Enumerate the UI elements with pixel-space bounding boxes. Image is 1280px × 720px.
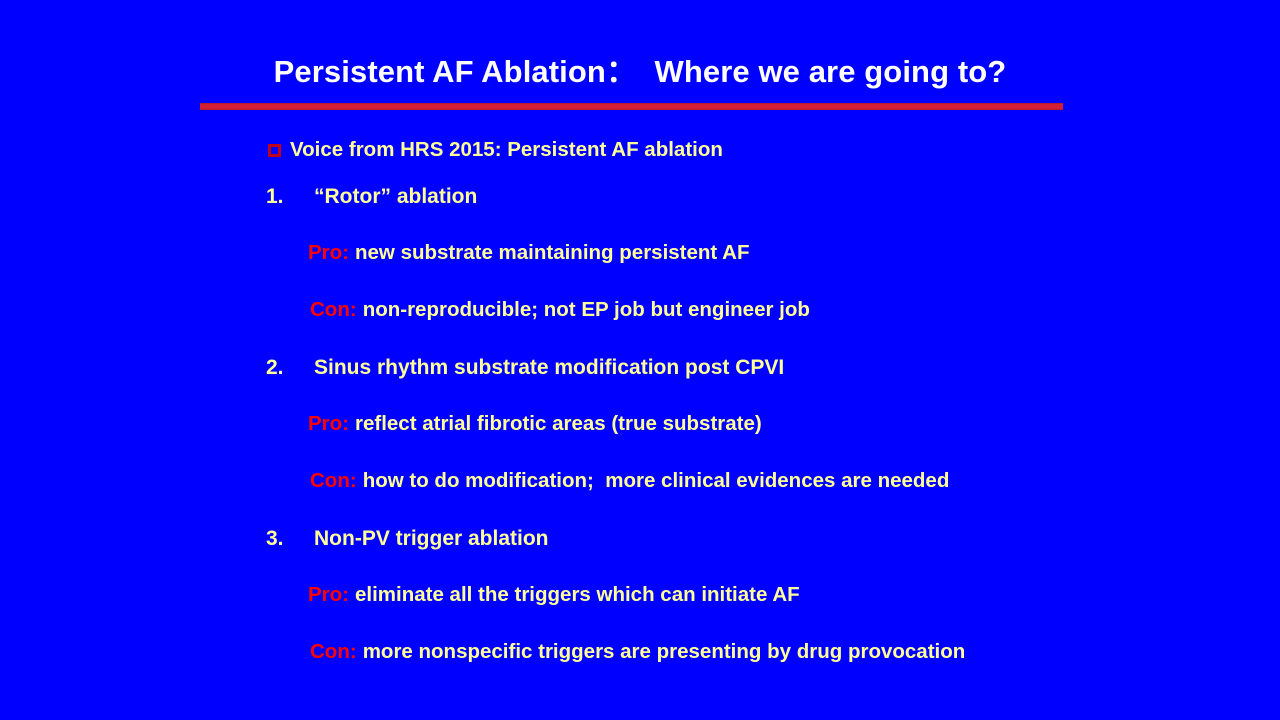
presentation-slide: Persistent AF Ablation： Where we are goi… xyxy=(0,0,1280,720)
con-row: Con: more nonspecific triggers are prese… xyxy=(310,624,1280,681)
con-label: Con: xyxy=(310,642,357,663)
list-item: 3. Non-PV trigger ablation xyxy=(266,510,1280,567)
list-item-number: 2. xyxy=(266,357,314,378)
pro-text: reflect atrial fibrotic areas (true subs… xyxy=(355,414,762,435)
pro-row: Pro: new substrate maintaining persisten… xyxy=(308,225,1280,282)
pro-text: eliminate all the triggers which can ini… xyxy=(355,585,800,606)
pro-label: Pro: xyxy=(308,585,349,606)
con-label: Con: xyxy=(310,471,357,492)
list-item-number: 3. xyxy=(266,528,314,549)
con-row: Con: how to do modification; more clinic… xyxy=(310,453,1280,510)
bullet-heading-row: Voice from HRS 2015: Persistent AF ablat… xyxy=(268,132,1280,168)
con-text: how to do modification; more clinical ev… xyxy=(363,471,950,492)
list-item: 1. “Rotor” ablation xyxy=(266,168,1280,225)
con-text: more nonspecific triggers are presenting… xyxy=(363,642,966,663)
slide-body: Voice from HRS 2015: Persistent AF ablat… xyxy=(0,132,1280,681)
list-item-number: 1. xyxy=(266,186,314,207)
title-underline-rule xyxy=(200,103,1063,110)
pro-row: Pro: reflect atrial fibrotic areas (true… xyxy=(308,396,1280,453)
con-text: non-reproducible; not EP job but enginee… xyxy=(363,300,810,321)
list-item-label: Non-PV trigger ablation xyxy=(314,528,549,549)
pro-label: Pro: xyxy=(308,243,349,264)
con-row: Con: non-reproducible; not EP job but en… xyxy=(310,282,1280,339)
list-item-label: “Rotor” ablation xyxy=(314,186,477,207)
bullet-heading-label: Voice from HRS 2015: Persistent AF ablat… xyxy=(290,140,723,161)
pro-row: Pro: eliminate all the triggers which ca… xyxy=(308,567,1280,624)
list-item-label: Sinus rhythm substrate modification post… xyxy=(314,357,784,378)
list-item: 2. Sinus rhythm substrate modification p… xyxy=(266,339,1280,396)
pro-text: new substrate maintaining persistent AF xyxy=(355,243,750,264)
page-title: Persistent AF Ablation： Where we are goi… xyxy=(274,52,1007,92)
title-block: Persistent AF Ablation： Where we are goi… xyxy=(0,52,1280,92)
square-bullet-icon xyxy=(268,144,281,157)
pro-label: Pro: xyxy=(308,414,349,435)
con-label: Con: xyxy=(310,300,357,321)
